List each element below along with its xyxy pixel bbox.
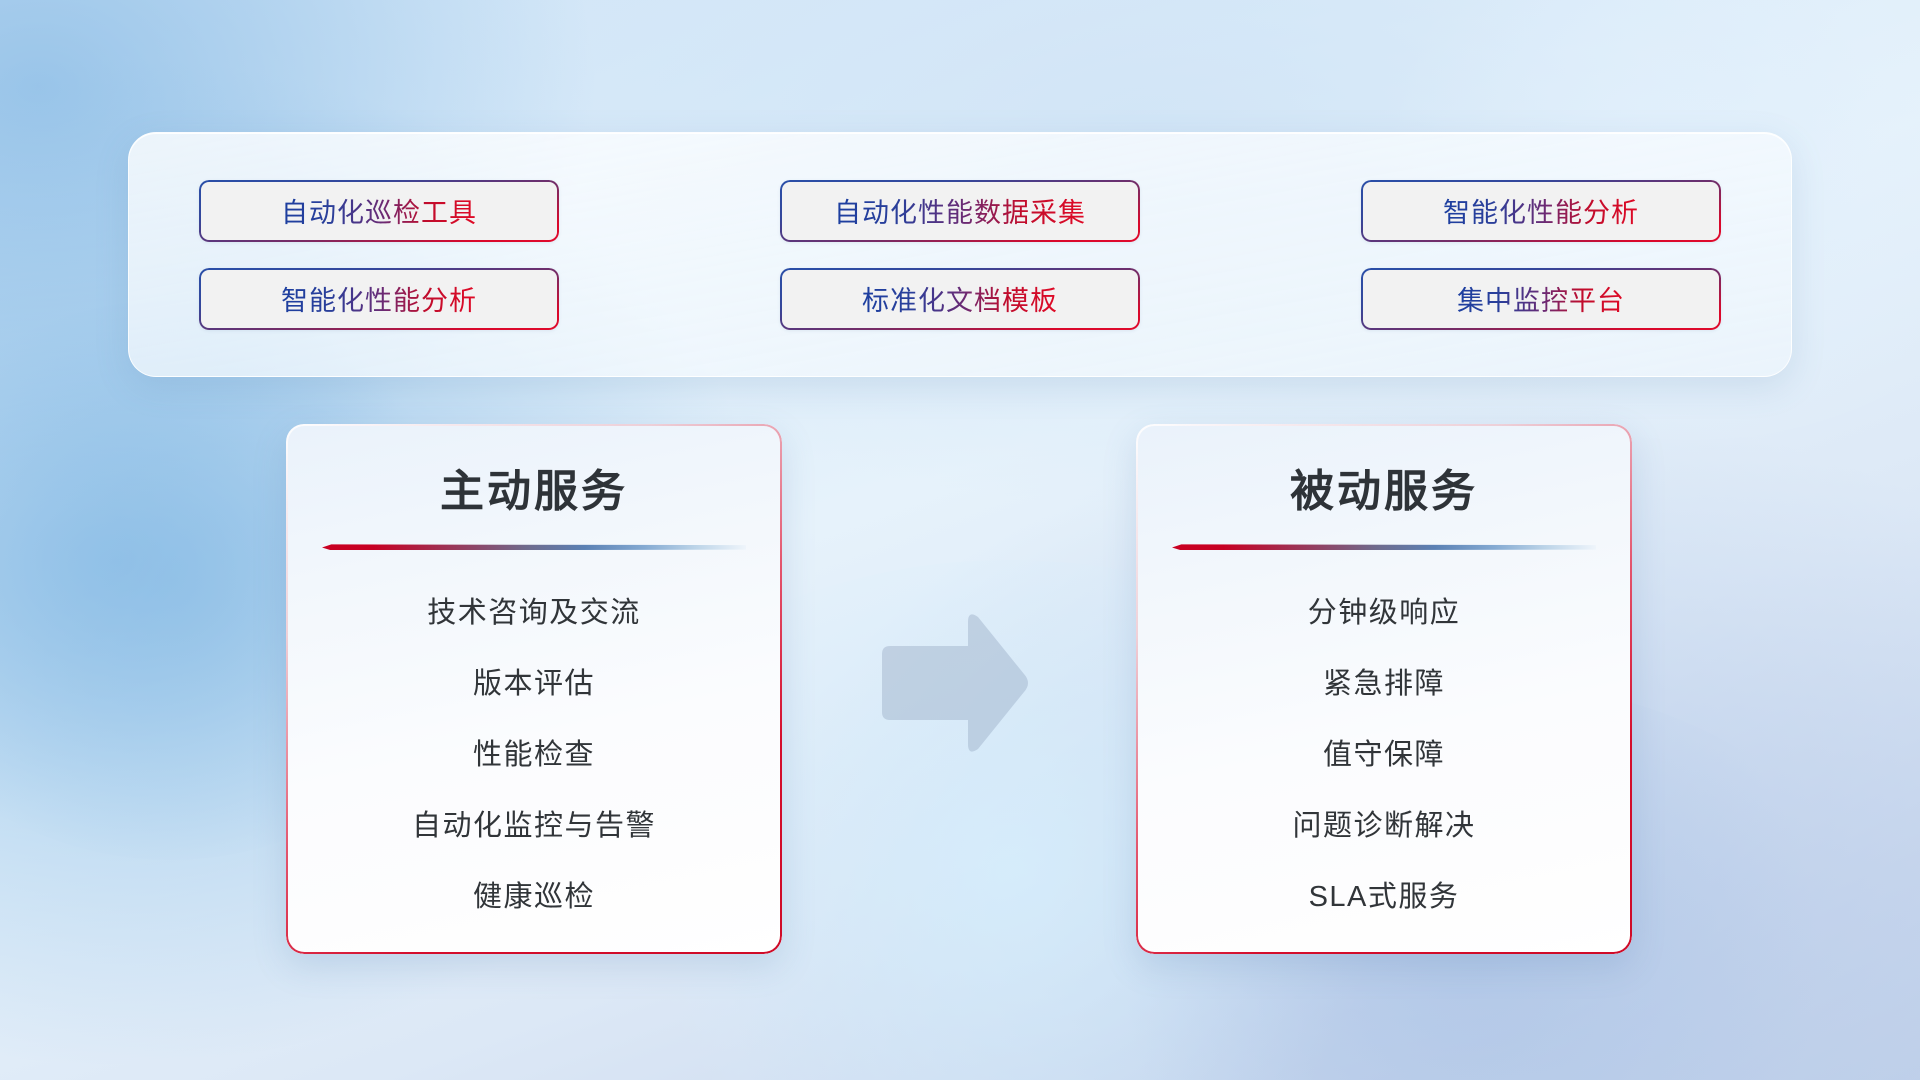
list-item: 技术咨询及交流: [427, 578, 641, 649]
capability-tag-row-2: 智能化性能分析 标准化文档模板 集中监控平台: [199, 268, 1721, 330]
divider-bar: [1172, 544, 1596, 550]
card-title: 主动服务: [320, 468, 748, 516]
capability-tag-label: 自动化性能数据采集: [834, 191, 1086, 230]
infographic-canvas: 自动化巡检工具 自动化性能数据采集 智能化性能分析 智能化性能分析 标准化文档模…: [0, 0, 1920, 1080]
capability-tag-label: 智能化性能分析: [1443, 191, 1639, 230]
list-item: 值守保障: [1323, 720, 1445, 791]
list-item: 健康巡检: [473, 862, 595, 933]
list-item: 自动化监控与告警: [412, 791, 656, 862]
card-title: 被动服务: [1170, 468, 1598, 516]
list-item: 分钟级响应: [1308, 578, 1461, 649]
capability-tag[interactable]: 标准化文档模板: [780, 268, 1140, 330]
card-title-divider: [1172, 542, 1596, 552]
capability-tag-label: 自动化巡检工具: [281, 191, 477, 230]
capability-tag[interactable]: 集中监控平台: [1361, 268, 1721, 330]
list-item: SLA式服务: [1309, 862, 1460, 933]
service-item-list: 分钟级响应 紧急排障 值守保障 问题诊断解决 SLA式服务: [1170, 578, 1598, 933]
list-item: 版本评估: [473, 649, 595, 720]
capability-tag[interactable]: 智能化性能分析: [199, 268, 559, 330]
capability-tag[interactable]: 智能化性能分析: [1361, 180, 1721, 242]
capability-tag[interactable]: 自动化巡检工具: [199, 180, 559, 242]
service-card-proactive: 主动服务 技术咨询及交流 版本评估 性能检查 自动化监控与告警 健康巡检: [286, 424, 782, 954]
capability-tag-label: 集中监控平台: [1457, 279, 1625, 318]
service-card-reactive: 被动服务 分钟级响应 紧急排障 值守保障 问题诊断解决 SLA式服务: [1136, 424, 1632, 954]
list-item: 紧急排障: [1323, 649, 1445, 720]
service-item-list: 技术咨询及交流 版本评估 性能检查 自动化监控与告警 健康巡检: [320, 578, 748, 933]
arrow-right-icon: [872, 608, 1032, 758]
card-title-divider: [322, 542, 746, 552]
divider-bar: [322, 544, 746, 550]
capability-tag-label: 智能化性能分析: [281, 279, 477, 318]
capability-tag-row-1: 自动化巡检工具 自动化性能数据采集 智能化性能分析: [199, 180, 1721, 242]
capability-tags-panel: 自动化巡检工具 自动化性能数据采集 智能化性能分析 智能化性能分析 标准化文档模…: [128, 132, 1792, 377]
capability-tag[interactable]: 自动化性能数据采集: [780, 180, 1140, 242]
list-item: 问题诊断解决: [1292, 791, 1475, 862]
capability-tag-label: 标准化文档模板: [862, 279, 1058, 318]
list-item: 性能检查: [473, 720, 595, 791]
